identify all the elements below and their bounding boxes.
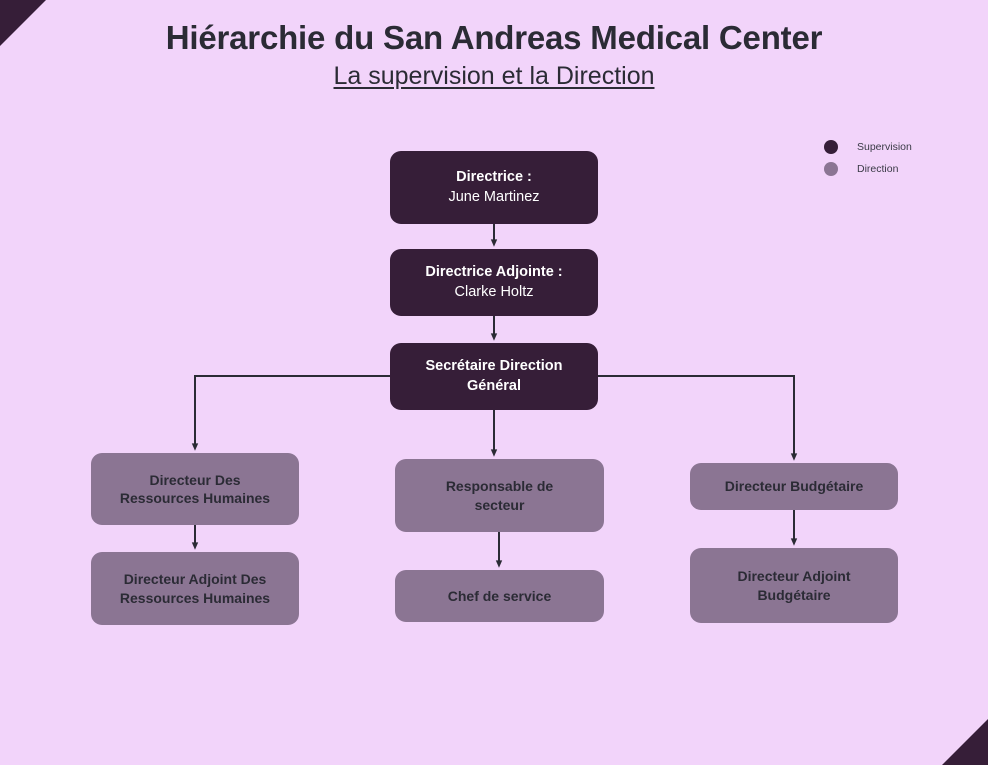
circle-icon (824, 140, 838, 154)
edge-secretaire-to-directeur-budgetaire (598, 376, 794, 457)
circle-icon (824, 162, 838, 176)
node-responsable-secteur[interactable]: Responsable desecteur (395, 459, 604, 532)
node-directeur-adjoint-budgetaire[interactable]: Directeur AdjointBudgétaire (690, 548, 898, 623)
legend-item-direction[interactable]: Direction (824, 158, 912, 180)
node-responsable-secteur-line-2: secteur (475, 496, 525, 514)
node-directeur-adjoint-rh-line-2: Ressources Humaines (120, 589, 270, 607)
legend-item-supervision[interactable]: Supervision (824, 136, 912, 158)
node-directeur-adjoint-budgetaire-line-1: Directeur Adjoint (737, 567, 850, 585)
node-responsable-secteur-line-1: Responsable de (446, 477, 553, 495)
node-directrice-line-2: June Martinez (448, 188, 539, 207)
node-chef-de-service-line-1: Chef de service (448, 587, 552, 605)
node-directeur-budgetaire[interactable]: Directeur Budgétaire (690, 463, 898, 510)
legend-label-supervision: Supervision (857, 141, 912, 153)
node-directeur-adjoint-rh[interactable]: Directeur Adjoint DesRessources Humaines (91, 552, 299, 625)
node-directeur-rh-line-1: Directeur Des (149, 471, 240, 489)
node-directrice-adjointe-line-1: Directrice Adjointe : (425, 263, 562, 282)
node-directeur-rh-line-2: Ressources Humaines (120, 489, 270, 507)
edge-secretaire-to-directeur-rh (195, 376, 390, 447)
node-directeur-adjoint-budgetaire-line-2: Budgétaire (757, 586, 830, 604)
legend: SupervisionDirection (824, 136, 912, 180)
node-directrice[interactable]: Directrice :June Martinez (390, 151, 598, 224)
org-chart-canvas: Hiérarchie du San Andreas Medical Center… (0, 0, 988, 765)
node-directrice-adjointe-line-2: Clarke Holtz (455, 283, 534, 302)
node-directrice-adjointe[interactable]: Directrice Adjointe :Clarke Holtz (390, 249, 598, 316)
node-secretaire-direction-general[interactable]: Secrétaire DirectionGénéral (390, 343, 598, 410)
node-directrice-line-1: Directrice : (456, 168, 532, 187)
node-directeur-adjoint-rh-line-1: Directeur Adjoint Des (124, 570, 267, 588)
node-directeur-budgetaire-line-1: Directeur Budgétaire (725, 477, 863, 495)
node-directeur-rh[interactable]: Directeur DesRessources Humaines (91, 453, 299, 525)
node-secretaire-direction-general-line-1: Secrétaire Direction (425, 357, 562, 376)
node-chef-de-service[interactable]: Chef de service (395, 570, 604, 622)
node-secretaire-direction-general-line-2: Général (467, 377, 521, 396)
legend-label-direction: Direction (857, 163, 898, 175)
